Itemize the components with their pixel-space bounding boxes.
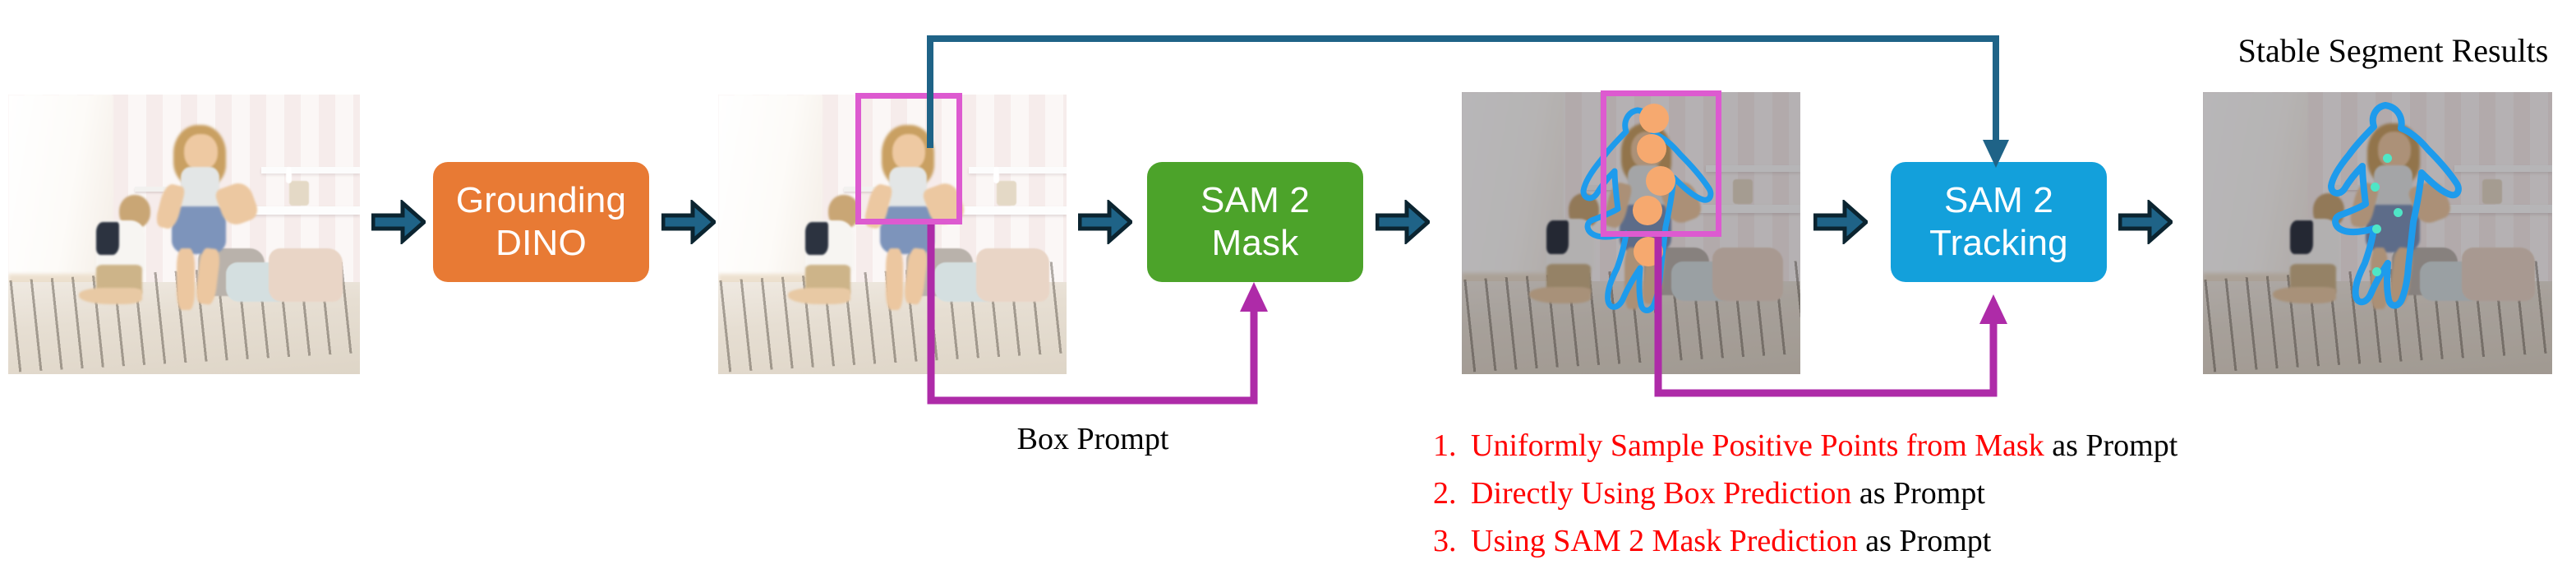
tracked-point-5 bbox=[2372, 267, 2381, 276]
route-box-to-tracking bbox=[900, 16, 2034, 173]
stage-grounding-dino-label: GroundingDINO bbox=[456, 179, 626, 265]
panel-tracking-result-frame bbox=[2203, 92, 2552, 374]
stable-segment-results-title: Stable Segment Results bbox=[2219, 31, 2568, 70]
photo-bedroom-scene bbox=[8, 95, 360, 374]
prompt-option-2: 2.Directly Using Box Prediction as Promp… bbox=[1433, 475, 1985, 511]
route-point-prompt-to-sam2-tracking bbox=[1631, 230, 2017, 407]
boy-sleeve bbox=[1546, 220, 1569, 254]
arrow-grounding-dino-to-detection bbox=[661, 200, 716, 244]
boy-sleeve bbox=[805, 222, 828, 256]
pillow-beige bbox=[269, 248, 343, 302]
prompt-option-2-number: 2. bbox=[1433, 475, 1471, 511]
photo-bedroom-scene-result bbox=[2203, 92, 2552, 374]
stage-grounding-dino[interactable]: GroundingDINO bbox=[433, 162, 649, 282]
prompt-option-3-red: Using SAM 2 Mask Prediction bbox=[1471, 524, 1858, 558]
tracked-point-2 bbox=[2371, 183, 2380, 192]
girl-top bbox=[2374, 165, 2412, 211]
shelf-vase-2 bbox=[2482, 179, 2502, 204]
shelf-vase-2 bbox=[1733, 179, 1753, 204]
boy-sleeve bbox=[96, 222, 119, 256]
prompt-option-3-black: as Prompt bbox=[1858, 524, 1992, 558]
pillow-beige bbox=[2462, 248, 2535, 301]
prompt-option-2-black: as Prompt bbox=[1851, 476, 1985, 511]
tracked-point-3 bbox=[2394, 208, 2403, 217]
girl-leg-left bbox=[177, 248, 194, 310]
boy-legs bbox=[79, 288, 142, 304]
panel-input-frame bbox=[8, 95, 360, 374]
wall-shelf-upper bbox=[261, 167, 360, 173]
prompt-option-1: 1.Uniformly Sample Positive Points from … bbox=[1433, 428, 2177, 464]
route-box-prompt-to-sam2-mask bbox=[904, 218, 1290, 407]
arrow-tracking-to-results bbox=[2118, 200, 2173, 244]
girl-skirt bbox=[172, 206, 226, 254]
prompt-option-3-number: 3. bbox=[1433, 523, 1471, 559]
girl-top bbox=[181, 167, 219, 211]
boy-sleeve bbox=[2290, 220, 2313, 254]
box-prompt-label: Box Prompt bbox=[945, 421, 1241, 457]
arrow-sam2-mask-to-points bbox=[1376, 200, 1430, 244]
pipeline-diagram: GroundingDINO bbox=[0, 0, 2576, 583]
girl-head bbox=[2378, 132, 2411, 169]
prompt-option-2-red: Directly Using Box Prediction bbox=[1471, 476, 1851, 511]
prompt-option-3: 3.Using SAM 2 Mask Prediction as Prompt bbox=[1433, 523, 1991, 559]
shelf-vase-2 bbox=[997, 181, 1016, 206]
girl-head bbox=[184, 134, 218, 170]
shelf-candle bbox=[286, 167, 292, 183]
shelf-vase-2 bbox=[289, 181, 309, 206]
prompt-option-1-number: 1. bbox=[1433, 428, 1471, 464]
girl-leg-left bbox=[886, 248, 903, 310]
prompt-option-1-red: Uniformly Sample Positive Points from Ma… bbox=[1471, 428, 2044, 463]
prompt-option-1-black: as Prompt bbox=[2044, 428, 2178, 463]
boy-legs bbox=[788, 288, 850, 304]
sample-point-4 bbox=[1633, 196, 1662, 225]
girl-leg-left bbox=[2371, 248, 2388, 309]
boy-legs bbox=[2273, 287, 2336, 304]
wall-shelf-upper bbox=[2454, 165, 2552, 172]
boy-legs bbox=[1529, 287, 1590, 304]
arrow-input-to-grounding-dino bbox=[371, 200, 426, 244]
